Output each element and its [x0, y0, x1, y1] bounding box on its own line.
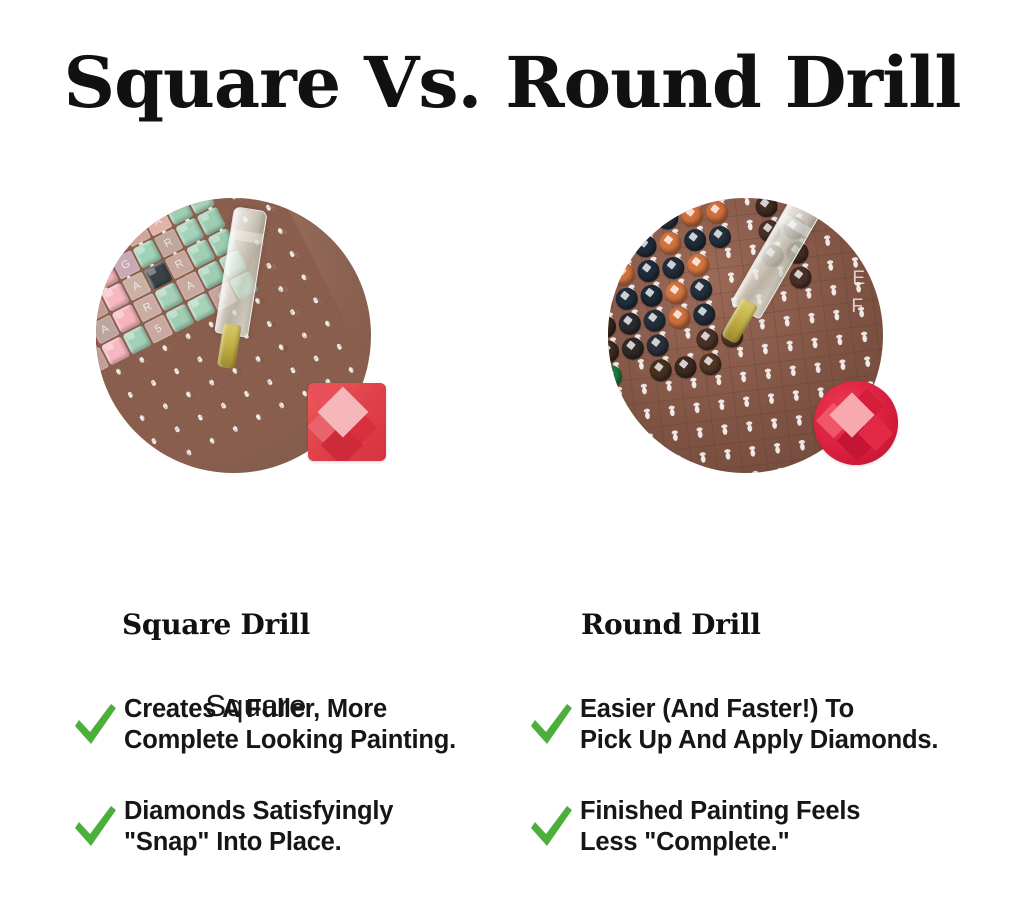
check-icon [528, 699, 574, 751]
check-icon [72, 801, 118, 853]
square-photo-wrap: G A 5 A A 5 A [96, 198, 386, 483]
round-drill-bullet-list: Easier (And Faster!) To Pick Up And Appl… [528, 688, 998, 892]
square-drill-heading: Square Drill [122, 608, 310, 641]
list-item-label: Creates A Fuller, More Complete Looking … [124, 694, 456, 756]
square-gem-swatch [308, 383, 386, 461]
page-title: Square Vs. Round Drill [0, 48, 1024, 118]
canvas-letter-e: E [852, 268, 865, 290]
infographic-page: Square Vs. Round Drill G A 5 [0, 0, 1024, 923]
round-drill-heading: Round Drill [581, 608, 761, 641]
canvas-letter-f: F [851, 296, 863, 318]
pen-band [230, 229, 263, 244]
round-photo-wrap: E F [608, 198, 898, 483]
list-item: Easier (And Faster!) To Pick Up And Appl… [528, 688, 998, 762]
check-icon [528, 801, 574, 853]
pen-band [779, 212, 812, 237]
check-icon [72, 699, 118, 751]
list-item: Diamonds Satisfyingly "Snap" Into Place. [72, 790, 512, 864]
list-item: Finished Painting Feels Less "Complete." [528, 790, 998, 864]
round-gem-swatch [814, 381, 898, 465]
list-item-label: Finished Painting Feels Less "Complete." [580, 796, 860, 858]
square-photo-cell: G A 5 A A 5 A [0, 198, 512, 498]
round-photo-cell: E F Round [512, 198, 1024, 498]
list-item: Creates A Fuller, More Complete Looking … [72, 688, 512, 762]
list-item-label: Easier (And Faster!) To Pick Up And Appl… [580, 694, 938, 756]
list-item-label: Diamonds Satisfyingly "Snap" Into Place. [124, 796, 393, 858]
square-drill-bullet-list: Creates A Fuller, More Complete Looking … [72, 688, 512, 892]
photo-comparison-row: G A 5 A A 5 A [0, 198, 1024, 498]
